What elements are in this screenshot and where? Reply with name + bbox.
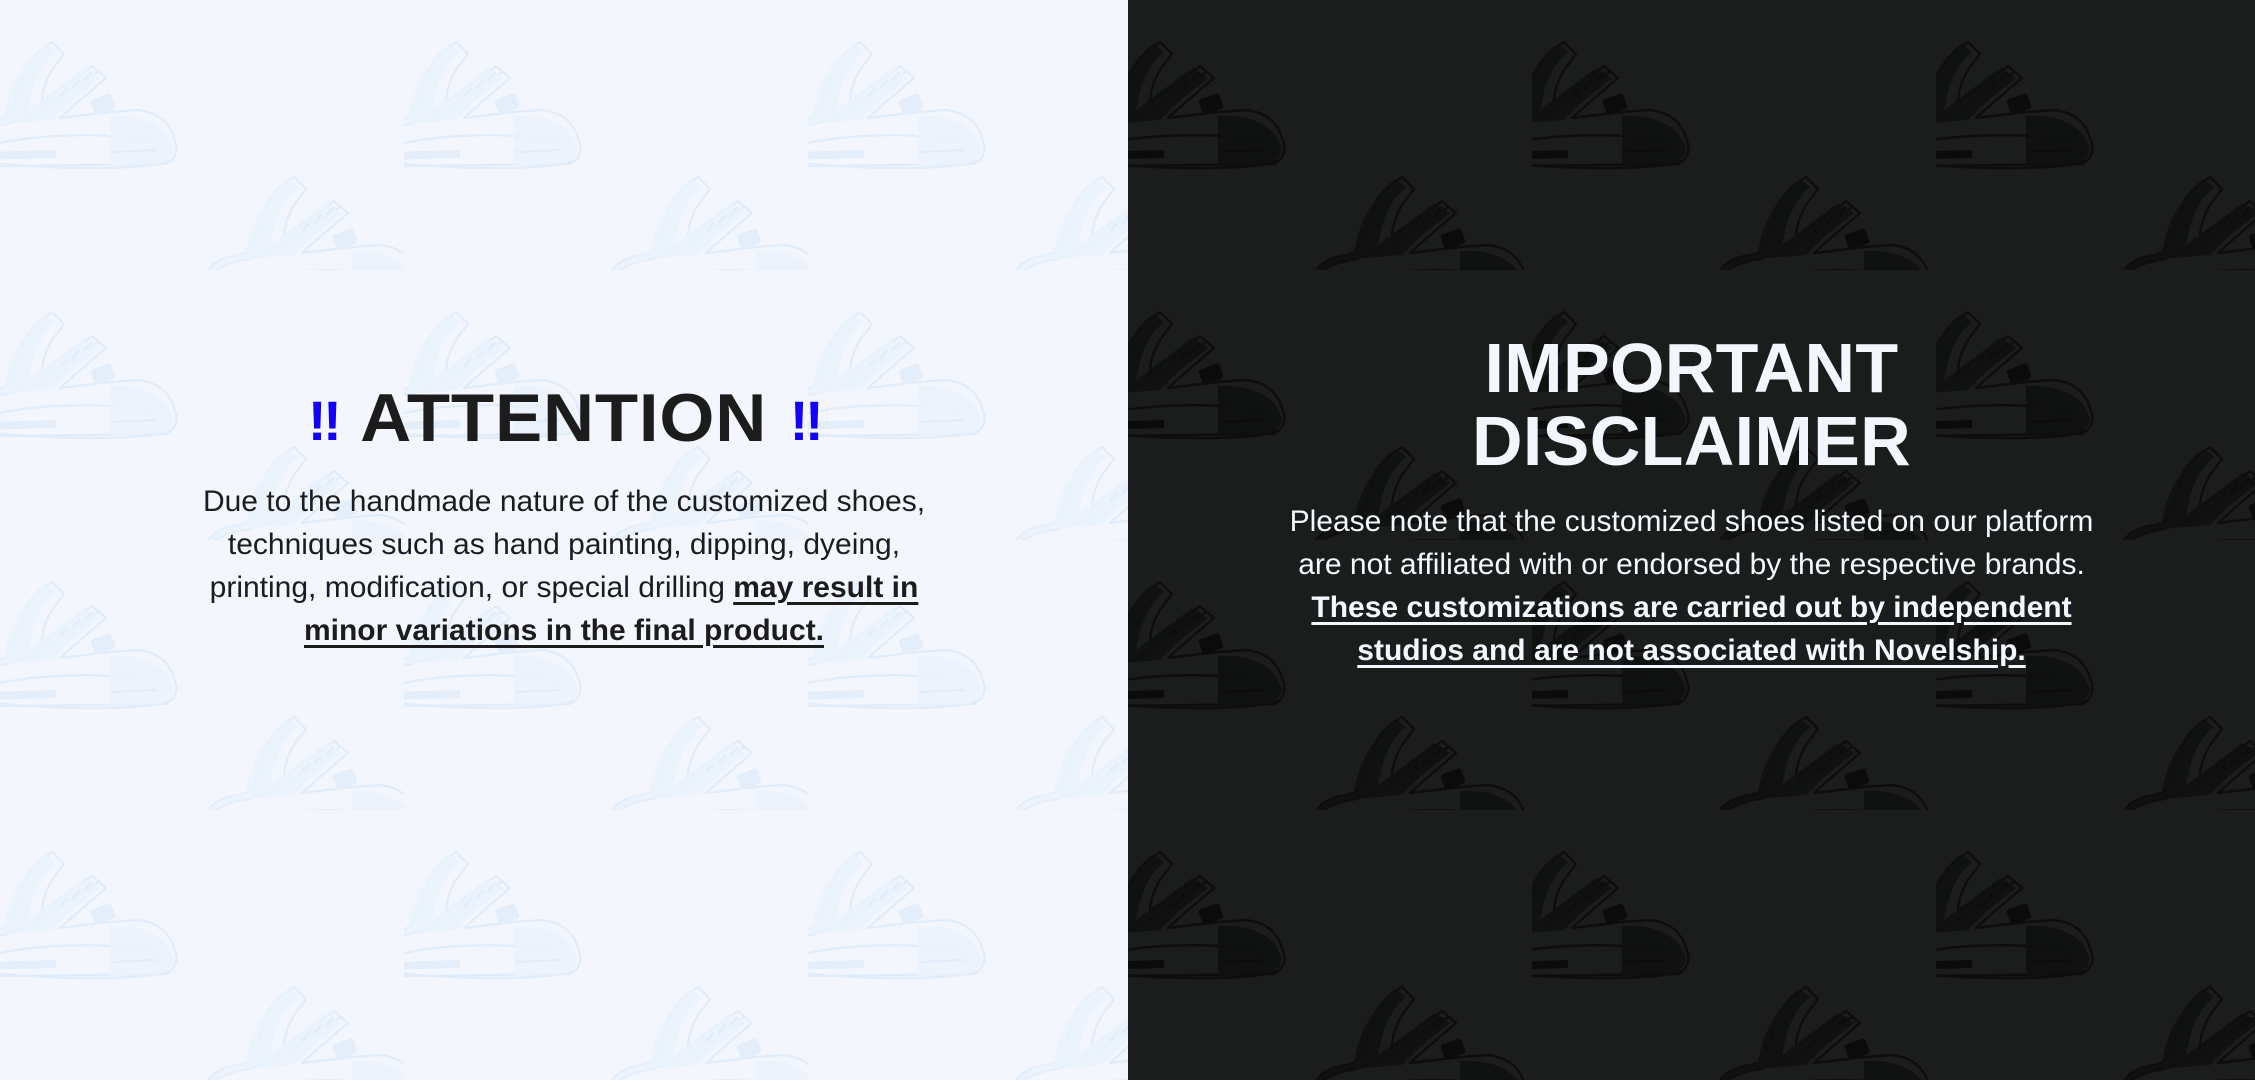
- disclaimer-body-normal: Please note that the customized shoes li…: [1290, 505, 2094, 581]
- attention-heading: ‼ ATTENTION ‼: [40, 384, 1088, 453]
- customization-notice-banner: ‼ ATTENTION ‼ Due to the handmade nature…: [0, 0, 2255, 1080]
- disclaimer-content: IMPORTANT DISCLAIMER Please note that th…: [1128, 332, 2255, 672]
- disclaimer-body-emphasis: These customizations are carried out by …: [1311, 591, 2071, 667]
- disclaimer-body: Please note that the customized shoes li…: [1277, 500, 2107, 672]
- double-exclamation-icon-right: ‼: [790, 393, 820, 449]
- double-exclamation-icon-left: ‼: [308, 393, 338, 449]
- attention-content: ‼ ATTENTION ‼ Due to the handmade nature…: [0, 384, 1128, 651]
- disclaimer-heading-line-2: DISCLAIMER: [1168, 405, 2215, 478]
- disclaimer-panel: IMPORTANT DISCLAIMER Please note that th…: [1128, 0, 2255, 1080]
- attention-panel: ‼ ATTENTION ‼ Due to the handmade nature…: [0, 0, 1128, 1080]
- attention-body: Due to the handmade nature of the custom…: [194, 480, 934, 652]
- attention-heading-text: ATTENTION: [360, 384, 767, 453]
- disclaimer-heading: IMPORTANT DISCLAIMER: [1168, 332, 2215, 478]
- disclaimer-heading-line-1: IMPORTANT: [1168, 332, 2215, 405]
